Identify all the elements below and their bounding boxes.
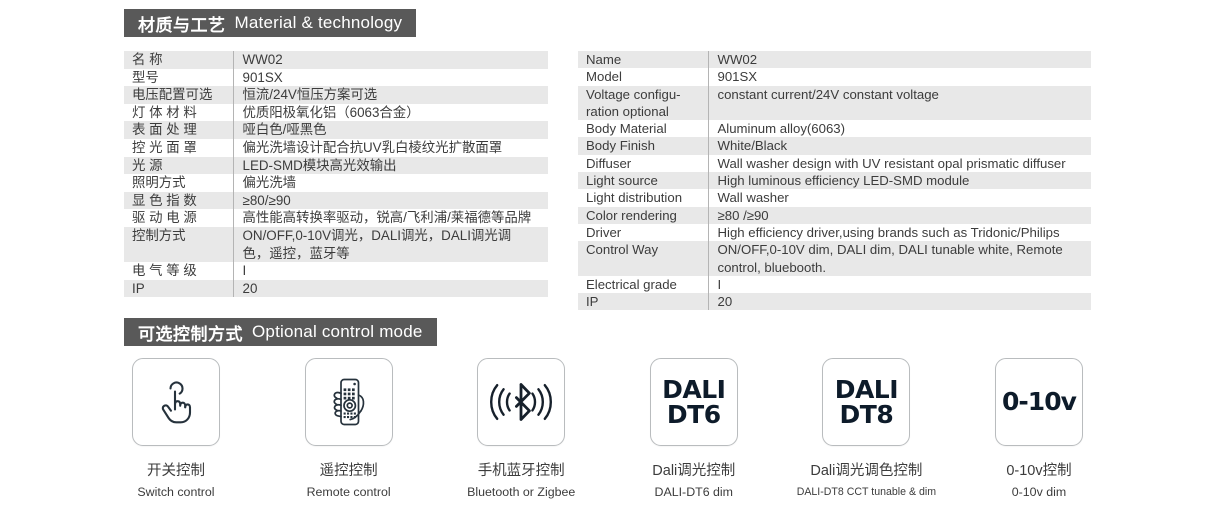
control-mode-card[interactable]: 0-10v: [995, 358, 1083, 446]
spec-value: I: [233, 262, 548, 280]
spec-key: 光 源: [124, 157, 233, 175]
table-row: Electrical gradeI: [578, 276, 1091, 293]
spec-key: 灯 体 材 料: [124, 104, 233, 122]
spec-value: 高性能高转换率驱动，锐高/飞利浦/莱福德等品牌: [233, 209, 548, 227]
table-row: 电 气 等 级I: [124, 262, 548, 280]
spec-key: Voltage configu- ration optional: [578, 86, 708, 121]
table-row: IP20: [578, 293, 1091, 310]
spec-key: 照明方式: [124, 174, 233, 192]
table-row: Light sourceHigh luminous efficiency LED…: [578, 172, 1091, 189]
spec-key: Name: [578, 51, 708, 68]
table-row: NameWW02: [578, 51, 1091, 68]
spec-key: 电压配置可选: [124, 86, 233, 104]
section-header-control-mode-en: Optional control mode: [252, 322, 423, 342]
zero-to-ten-volt-icon: 0-10v: [1002, 389, 1076, 415]
spec-key: 显 色 指 数: [124, 192, 233, 210]
spec-key: Driver: [578, 224, 708, 241]
control-mode-label-cn: Dali调光控制: [652, 462, 735, 481]
spec-key: 电 气 等 级: [124, 262, 233, 280]
spec-value: WW02: [233, 51, 548, 69]
control-mode-label-cn: 遥控控制: [307, 462, 391, 481]
control-mode-item[interactable]: DALIDT6Dali调光控制DALI-DT6 dim: [642, 358, 746, 502]
control-mode-label-cn: 手机蓝牙控制: [467, 462, 575, 481]
section-header-control-mode-cn: 可选控制方式: [138, 320, 243, 345]
spec-value: I: [708, 276, 1091, 293]
spec-key: 型号: [124, 69, 233, 87]
table-row: 型号901SX: [124, 69, 548, 87]
control-mode-label-en: 0-10v dim: [1006, 483, 1071, 502]
control-mode-label-group: 手机蓝牙控制Bluetooth or Zigbee: [467, 462, 575, 502]
spec-table-english: NameWW02Model901SXVoltage configu- ratio…: [578, 51, 1091, 310]
table-row: 电压配置可选恒流/24V恒压方案可选: [124, 86, 548, 104]
control-mode-label-group: Dali调光调色控制DALI-DT8 CCT tunable & dim: [797, 462, 936, 502]
spec-table-chinese-body: 名 称WW02型号901SX电压配置可选恒流/24V恒压方案可选灯 体 材 料优…: [124, 51, 548, 297]
section-header-material-cn: 材质与工艺: [138, 11, 226, 36]
table-row: DiffuserWall washer design with UV resis…: [578, 155, 1091, 172]
spec-value: Aluminum alloy(6063): [708, 120, 1091, 137]
touch-hand-icon: [148, 374, 204, 430]
spec-value: High efficiency driver,using brands such…: [708, 224, 1091, 241]
spec-key: Diffuser: [578, 155, 708, 172]
spec-value: constant current/24V constant voltage: [708, 86, 1091, 121]
control-mode-item[interactable]: 手机蓝牙控制Bluetooth or Zigbee: [469, 358, 573, 502]
spec-value: 优质阳极氧化铝（6063合金）: [233, 104, 548, 122]
table-row: Body MaterialAluminum alloy(6063): [578, 120, 1091, 137]
table-row: DriverHigh efficiency driver,using brand…: [578, 224, 1091, 241]
control-mode-label-en: Switch control: [137, 483, 214, 502]
spec-key: IP: [124, 280, 233, 298]
spec-key: Body Material: [578, 120, 708, 137]
control-mode-item[interactable]: 遥控控制Remote control: [297, 358, 401, 502]
dali-dt8-icon: DALIDT8: [835, 377, 898, 428]
spec-value: 901SX: [708, 68, 1091, 85]
control-mode-item[interactable]: DALIDT8Dali调光调色控制DALI-DT8 CCT tunable & …: [814, 358, 918, 502]
control-mode-label-group: 开关控制Switch control: [137, 462, 214, 502]
badge-line-1: DALI: [662, 377, 725, 403]
control-mode-card[interactable]: DALIDT8: [822, 358, 910, 446]
control-mode-label-group: 0-10v控制0-10v dim: [1006, 462, 1071, 502]
table-row: Body FinishWhite/Black: [578, 137, 1091, 154]
spec-key: 名 称: [124, 51, 233, 69]
table-row: 控 光 面 罩偏光洗墙设计配合抗UV乳白棱纹光扩散面罩: [124, 139, 548, 157]
badge-line-2: DT8: [835, 402, 898, 428]
control-mode-label-en: DALI-DT6 dim: [652, 483, 735, 502]
badge-line-1: DALI: [835, 377, 898, 403]
table-row: 照明方式偏光洗墙: [124, 174, 548, 192]
spec-value: 偏光洗墙: [233, 174, 548, 192]
spec-key: 驱 动 电 源: [124, 209, 233, 227]
control-mode-item[interactable]: 0-10v0-10v控制0-10v dim: [987, 358, 1091, 502]
table-row: Model901SX: [578, 68, 1091, 85]
badge-line-1: 0-10v: [1002, 387, 1076, 416]
table-row: 名 称WW02: [124, 51, 548, 69]
control-mode-label-en: Bluetooth or Zigbee: [467, 483, 575, 502]
section-header-material: 材质与工艺 Material & technology: [124, 9, 416, 37]
control-mode-label-cn: 开关控制: [137, 462, 214, 481]
spec-key: Color rendering: [578, 207, 708, 224]
spec-value: ≥80 /≥90: [708, 207, 1091, 224]
control-mode-card[interactable]: [305, 358, 393, 446]
spec-value: Wall washer design with UV resistant opa…: [708, 155, 1091, 172]
table-row: 光 源LED-SMD模块高光效输出: [124, 157, 548, 175]
spec-value: 哑白色/哑黑色: [233, 121, 548, 139]
spec-value: White/Black: [708, 137, 1091, 154]
control-mode-label-group: 遥控控制Remote control: [307, 462, 391, 502]
control-mode-card[interactable]: [132, 358, 220, 446]
control-mode-list: 开关控制Switch control 遥控控制Remote control: [124, 358, 1091, 502]
table-row: Light distributionWall washer: [578, 189, 1091, 206]
spec-value: 20: [708, 293, 1091, 310]
spec-table-chinese: 名 称WW02型号901SX电压配置可选恒流/24V恒压方案可选灯 体 材 料优…: [124, 51, 548, 297]
spec-key: 控制方式: [124, 227, 233, 262]
spec-key: IP: [578, 293, 708, 310]
section-header-control-mode: 可选控制方式 Optional control mode: [124, 318, 437, 346]
remote-in-hand-icon: [320, 373, 378, 431]
spec-value: 20: [233, 280, 548, 298]
spec-key: Model: [578, 68, 708, 85]
table-row: 驱 动 电 源高性能高转换率驱动，锐高/飞利浦/莱福德等品牌: [124, 209, 548, 227]
spec-table-english-body: NameWW02Model901SXVoltage configu- ratio…: [578, 51, 1091, 310]
table-row: Color rendering≥80 /≥90: [578, 207, 1091, 224]
spec-key: Light source: [578, 172, 708, 189]
spec-value: High luminous efficiency LED-SMD module: [708, 172, 1091, 189]
table-row: 显 色 指 数≥80/≥90: [124, 192, 548, 210]
table-row: 灯 体 材 料优质阳极氧化铝（6063合金）: [124, 104, 548, 122]
table-row: IP20: [124, 280, 548, 298]
spec-key: Light distribution: [578, 189, 708, 206]
control-mode-label-cn: 0-10v控制: [1006, 462, 1071, 481]
table-row: 表 面 处 理哑白色/哑黑色: [124, 121, 548, 139]
control-mode-label-en: Remote control: [307, 483, 391, 502]
control-mode-card[interactable]: DALIDT6: [650, 358, 738, 446]
spec-value: ≥80/≥90: [233, 192, 548, 210]
bluetooth-signal-icon: [490, 379, 552, 425]
spec-value: 恒流/24V恒压方案可选: [233, 86, 548, 104]
spec-key: Control Way: [578, 241, 708, 276]
control-mode-item[interactable]: 开关控制Switch control: [124, 358, 228, 502]
spec-value: LED-SMD模块高光效输出: [233, 157, 548, 175]
control-mode-card[interactable]: [477, 358, 565, 446]
spec-key: 控 光 面 罩: [124, 139, 233, 157]
spec-value: ON/OFF,0-10V调光，DALI调光，DALI调光调 色，遥控，蓝牙等: [233, 227, 548, 262]
spec-value: 偏光洗墙设计配合抗UV乳白棱纹光扩散面罩: [233, 139, 548, 157]
control-mode-label-en: DALI-DT8 CCT tunable & dim: [797, 483, 936, 502]
section-header-material-en: Material & technology: [235, 13, 403, 33]
badge-line-2: DT6: [662, 402, 725, 428]
table-row: Voltage configu- ration optionalconstant…: [578, 86, 1091, 121]
spec-key: 表 面 处 理: [124, 121, 233, 139]
spec-key: Electrical grade: [578, 276, 708, 293]
spec-key: Body Finish: [578, 137, 708, 154]
spec-value: 901SX: [233, 69, 548, 87]
spec-value: WW02: [708, 51, 1091, 68]
control-mode-label-cn: Dali调光调色控制: [797, 462, 936, 481]
table-row: 控制方式ON/OFF,0-10V调光，DALI调光，DALI调光调 色，遥控，蓝…: [124, 227, 548, 262]
dali-dt6-icon: DALIDT6: [662, 377, 725, 428]
spec-value: Wall washer: [708, 189, 1091, 206]
table-row: Control WayON/OFF,0-10V dim, DALI dim, D…: [578, 241, 1091, 276]
spec-value: ON/OFF,0-10V dim, DALI dim, DALI tunable…: [708, 241, 1091, 276]
control-mode-label-group: Dali调光控制DALI-DT6 dim: [652, 462, 735, 502]
